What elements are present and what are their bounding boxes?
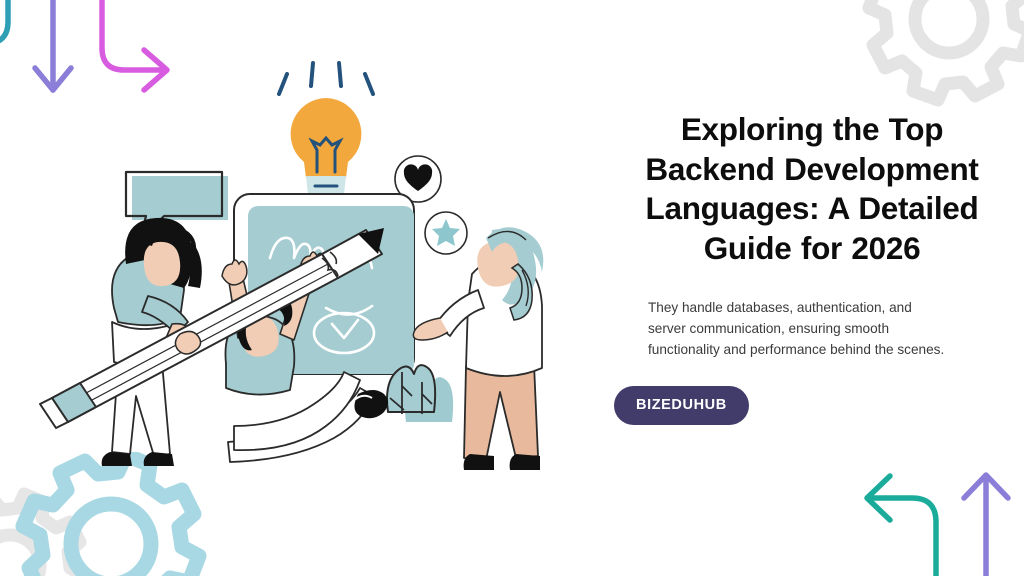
page-title: Exploring the Top Backend Development La… — [614, 110, 1010, 269]
lightbulb-icon — [279, 63, 373, 208]
teal-curved-arrow — [0, 0, 8, 44]
gear-icon-top-right — [836, 0, 1024, 116]
person-hijab — [413, 227, 543, 470]
gear-icon-gray — [0, 494, 84, 576]
illustration-team-drawing — [22, 46, 602, 476]
brand-badge-bizeduhub[interactable]: BIZEDUHUB — [614, 386, 749, 425]
purple-up-arrow — [964, 475, 1008, 576]
teal-curved-left-arrow — [867, 476, 936, 576]
poster-canvas: Exploring the Top Backend Development La… — [0, 0, 1024, 576]
arrows-cluster-bottom-right — [846, 466, 1024, 576]
plant-bush — [387, 365, 453, 422]
brand-badge-wrapper: BIZEDUHUB — [614, 386, 1010, 425]
content-column: Exploring the Top Backend Development La… — [614, 110, 1010, 425]
page-description: They handle databases, authentication, a… — [648, 297, 948, 361]
star-badge-icon — [425, 212, 467, 254]
